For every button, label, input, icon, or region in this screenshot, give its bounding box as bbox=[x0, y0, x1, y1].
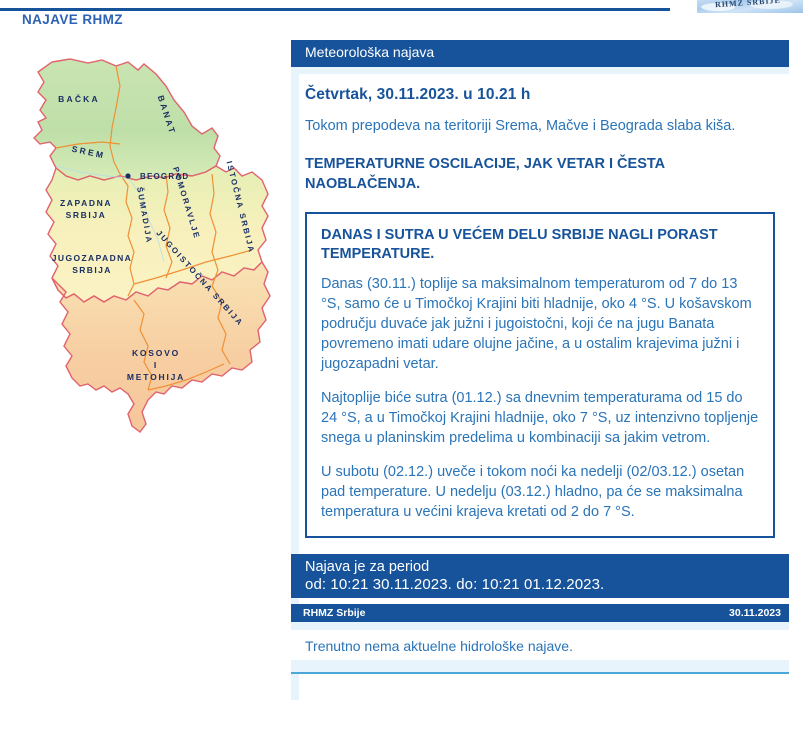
validity-period-range: od: 10:21 30.11.2023. do: 10:21 01.12.20… bbox=[305, 576, 789, 595]
map-label-zapadna-srbija: SRBIJA bbox=[66, 210, 107, 220]
map-label-jugozapadna-srbija: SRBIJA bbox=[72, 265, 112, 275]
map-label-backa: BAČKA bbox=[58, 93, 100, 104]
serbia-region-map: BAČKA BANAT SREM BEOGRAD ZAPADNA SRBIJA … bbox=[16, 56, 288, 438]
rhmz-logo-banner: RHMZ SRBIJE bbox=[697, 0, 803, 13]
forecast-header-bar: Meteorološka najava bbox=[291, 40, 789, 67]
header-spacer bbox=[291, 67, 789, 74]
validity-period-label: Najava je za period bbox=[305, 558, 789, 576]
bottom-divider bbox=[291, 672, 789, 674]
page-title: NAJAVE RHMZ bbox=[22, 12, 123, 27]
map-label-metohija: METOHIJA bbox=[127, 372, 185, 382]
map-label-jugozapadna: JUGOZAPADNA bbox=[52, 253, 132, 263]
source-date: 30.11.2023 bbox=[729, 607, 781, 619]
belgrade-marker-icon bbox=[125, 173, 130, 178]
warning-box: DANAS I SUTRA U VEĆEM DELU SRBIJE NAGLI … bbox=[305, 212, 775, 538]
forecast-panel: Meteorološka najava Četvrtak, 30.11.2023… bbox=[291, 40, 789, 674]
hydro-bottom-spacer bbox=[291, 660, 789, 672]
hydro-top-spacer bbox=[291, 622, 789, 630]
hydro-message: Trenutno nema aktuelne hidrološke najave… bbox=[291, 630, 789, 660]
map-label-kosovo: KOSOVO bbox=[132, 348, 180, 358]
validity-period-bar: Najava je za period od: 10:21 30.11.2023… bbox=[291, 554, 789, 598]
warning-paragraph-1: Danas (30.11.) toplije sa maksimalnom te… bbox=[321, 274, 759, 374]
source-name: RHMZ Srbije bbox=[303, 607, 365, 619]
forecast-headline: TEMPERATURNE OSCILACIJE, JAK VETAR I ČES… bbox=[291, 136, 789, 194]
forecast-intro: Tokom prepodeva na teritoriji Srema, Mač… bbox=[291, 108, 789, 136]
source-footer-bar: RHMZ Srbije 30.11.2023 bbox=[291, 604, 789, 622]
header-divider bbox=[0, 8, 670, 11]
warning-title: DANAS I SUTRA U VEĆEM DELU SRBIJE NAGLI … bbox=[321, 226, 759, 264]
page-root: RHMZ SRBIJE NAJAVE RHMZ bbox=[0, 0, 809, 745]
warning-paragraph-2: Najtoplije biće sutra (01.12.) sa dnevni… bbox=[321, 388, 759, 448]
warning-paragraph-3: U subotu (02.12.) uveče i tokom noći ka … bbox=[321, 462, 759, 522]
map-area-vojvodina bbox=[34, 59, 220, 180]
map-label-zapadna: ZAPADNA bbox=[60, 198, 112, 208]
map-label-kosovo-i: I bbox=[154, 360, 158, 370]
forecast-date: Četvrtak, 30.11.2023. u 10.21 h bbox=[291, 74, 789, 108]
